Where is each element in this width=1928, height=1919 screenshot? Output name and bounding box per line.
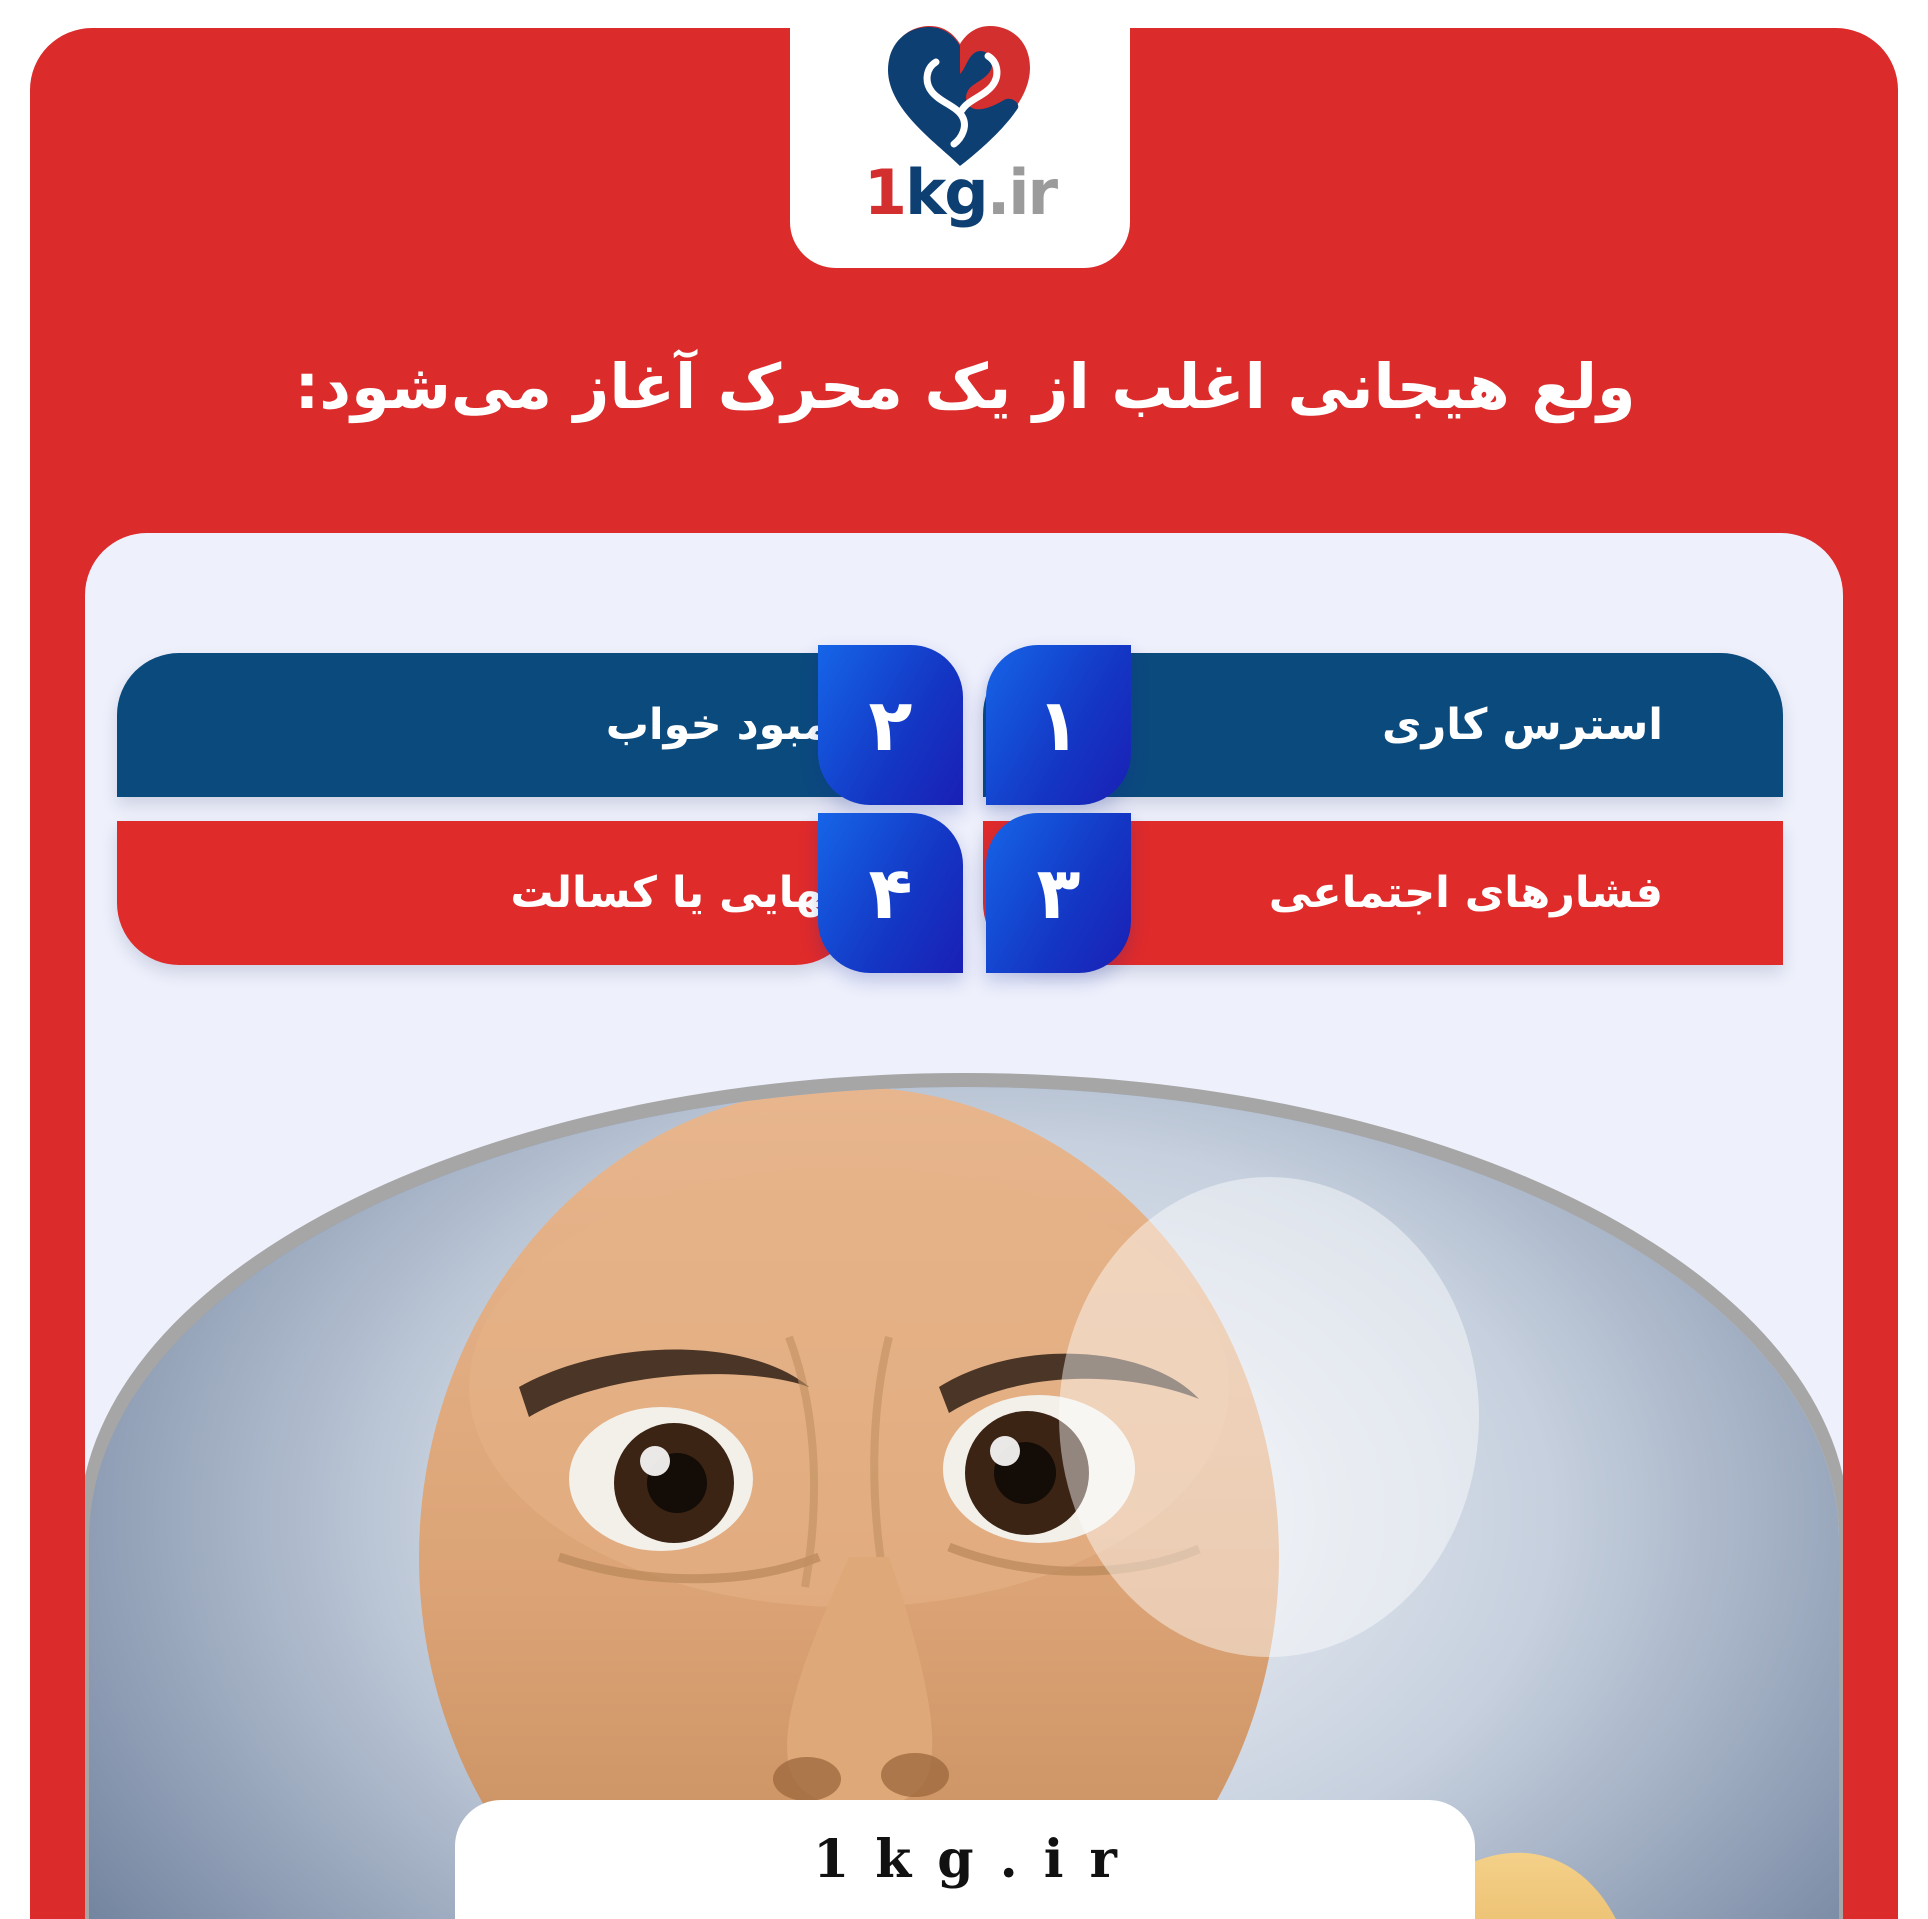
footer-site-tab: 1kg.ir xyxy=(455,1800,1475,1919)
trigger-badge-4: ۴ xyxy=(818,813,963,973)
footer-site-text: 1kg.ir xyxy=(787,1829,1143,1890)
page-title: ولع هیجانی اغلب از یک محرک آغاز می‌شود: xyxy=(120,345,1810,429)
brand-logo: 1kg.ir xyxy=(790,0,1130,268)
hero-photo xyxy=(89,1087,1839,1919)
trigger-row-1: استرس کاری کمبود خواب ۱ ۲ xyxy=(85,653,1843,813)
photo-rim xyxy=(85,1073,1843,1919)
brand-wordmark: 1kg.ir xyxy=(864,162,1056,224)
poster: ولع هیجانی اغلب از یک محرک آغاز می‌شود: … xyxy=(0,0,1928,1919)
trigger-badge-1: ۱ xyxy=(986,645,1131,805)
trigger-badge-2: ۲ xyxy=(818,645,963,805)
trigger-card-2-label: کمبود خواب xyxy=(237,700,857,750)
trigger-row-2: فشارهای اجتماعی تنهایی یا کسالت ۳ ۴ xyxy=(85,821,1843,981)
trigger-badge-3: ۳ xyxy=(986,813,1131,973)
heart-with-flexed-arm-icon xyxy=(880,16,1040,168)
trigger-card-4-label: تنهایی یا کسالت xyxy=(237,868,857,918)
trigger-card-4[interactable]: تنهایی یا کسالت xyxy=(117,821,857,965)
trigger-card-2[interactable]: کمبود خواب xyxy=(117,653,857,797)
content-panel: استرس کاری کمبود خواب ۱ ۲ فشارهای اجتماع… xyxy=(85,533,1843,1919)
